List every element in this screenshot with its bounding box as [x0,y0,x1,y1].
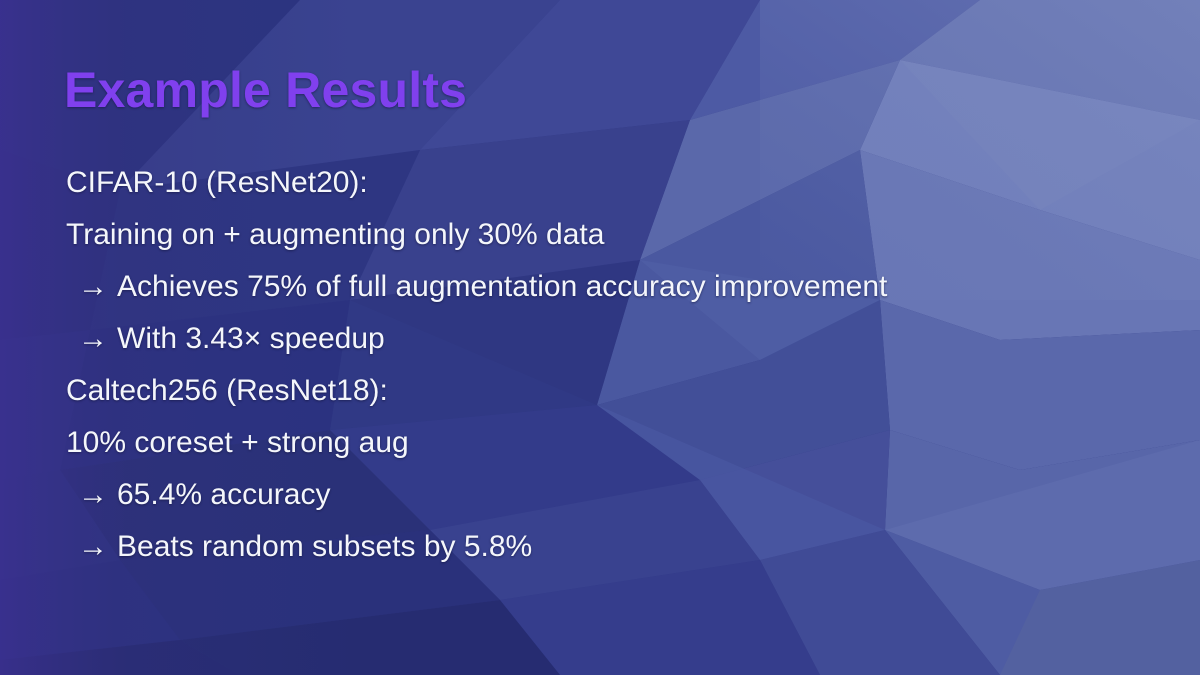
body-line: CIFAR-10 (ResNet20): [0,157,1200,209]
body-line: 10% coreset + strong aug [0,417,1200,469]
body-line: →65.4% accuracy [0,469,1200,521]
body-line: Training on + augmenting only 30% data [0,209,1200,261]
body-line-text: Training on + augmenting only 30% data [66,218,604,251]
body-line-text: Beats random subsets by 5.8% [117,530,532,563]
body-line: →With 3.43× speedup [0,313,1200,365]
body-line-text: 65.4% accuracy [117,478,330,511]
body-line: →Beats random subsets by 5.8% [0,521,1200,573]
right-arrow-icon: → [78,261,108,313]
body-line: Caltech256 (ResNet18): [0,365,1200,417]
presentation-slide: Example Results CIFAR-10 (ResNet20): Tra… [0,0,1200,675]
right-arrow-icon: → [78,521,108,573]
body-line-text: Caltech256 (ResNet18): [66,374,388,407]
body-line-text: With 3.43× speedup [117,322,385,355]
slide-body: CIFAR-10 (ResNet20): Training on + augme… [0,157,1200,573]
body-line: →Achieves 75% of full augmentation accur… [0,261,1200,313]
right-arrow-icon: → [78,469,108,521]
page-title: Example Results [64,61,467,119]
body-line-text: Achieves 75% of full augmentation accura… [117,270,887,303]
body-line-text: 10% coreset + strong aug [66,426,409,459]
right-arrow-icon: → [78,313,108,365]
body-line-text: CIFAR-10 (ResNet20): [66,166,368,199]
